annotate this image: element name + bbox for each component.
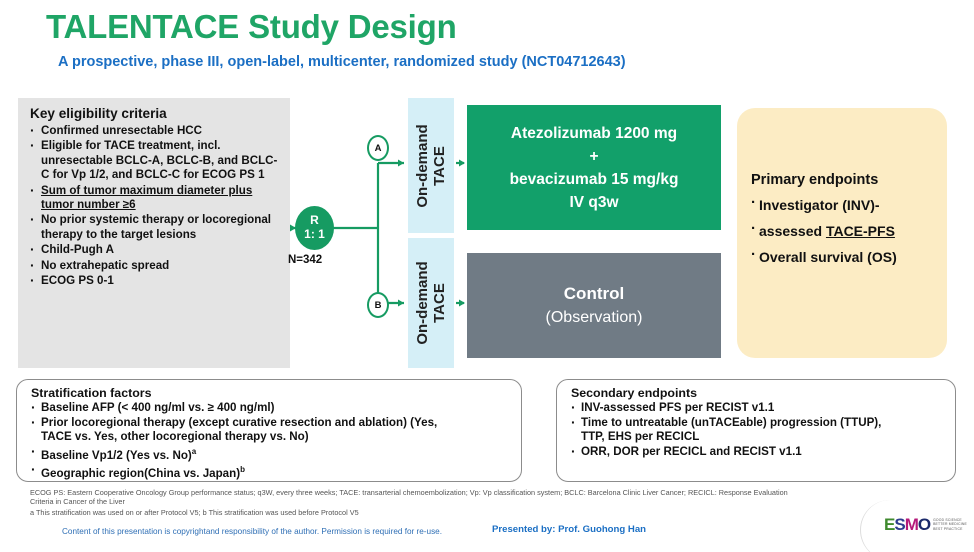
tace-a-line1: On-demand xyxy=(414,124,431,207)
footnote-marker-b: b xyxy=(240,465,245,474)
esmo-tag-line-3: BEST PRACTICE xyxy=(933,527,967,531)
on-demand-tace-arm-a: On-demand TACE xyxy=(408,98,454,233)
primary-endpoints-title: Primary endpoints xyxy=(751,172,947,188)
list-item: Sum of tumor maximum diameter plus tumor… xyxy=(30,184,284,213)
on-demand-tace-arm-a-text: On-demand TACE xyxy=(414,124,448,207)
list-item: Overall survival (OS) xyxy=(751,244,947,270)
footnote-line-3: a This stratification was used on or aft… xyxy=(30,508,935,517)
tace-b-line2: TACE xyxy=(431,283,448,323)
stratification-panel: Stratification factors Baseline AFP (< 4… xyxy=(16,379,522,482)
list-item: Confirmed unresectable HCC xyxy=(30,124,284,138)
list-item: Child-Pugh A xyxy=(30,243,284,257)
esmo-letter-s: S xyxy=(894,515,904,534)
list-item: Baseline Vp1/2 (Yes vs. No)a xyxy=(31,445,511,463)
list-item: Baseline AFP (< 400 ng/ml vs. ≥ 400 ng/m… xyxy=(31,401,511,416)
page-title: TALENTACE Study Design xyxy=(46,8,457,46)
arm-a-marker: A xyxy=(367,135,389,161)
primary-item1-underlined: TACE-PFS xyxy=(826,223,895,239)
eligibility-panel: Key eligibility criteria Confirmed unres… xyxy=(18,98,290,368)
strat-item-vp: Baseline Vp1/2 (Yes vs. No) xyxy=(41,449,192,462)
secondary-endpoints-title: Secondary endpoints xyxy=(557,380,955,401)
strat-item-region: Geographic region(China vs. Japan) xyxy=(41,467,240,480)
footnote-line-1: ECOG PS: Eastern Cooperative Oncology Gr… xyxy=(30,488,935,497)
treatment-arm-b-box: Control (Observation) xyxy=(467,253,721,358)
page-subtitle: A prospective, phase III, open-label, mu… xyxy=(58,54,626,70)
arm-b-marker: B xyxy=(367,292,389,318)
arm-b-line2: (Observation) xyxy=(467,306,721,330)
primary-item1-part2: assessed xyxy=(759,223,826,239)
list-item: ECOG PS 0-1 xyxy=(30,274,284,288)
slide-canvas: TALENTACE Study Design A prospective, ph… xyxy=(0,0,974,552)
tace-b-line1: On-demand xyxy=(414,261,431,344)
list-item: No prior systemic therapy or locoregiona… xyxy=(30,213,284,242)
copyright-text: Content of this presentation is copyrigh… xyxy=(62,527,442,536)
primary-endpoints-list: Investigator (INV)- assessed TACE-PFS Ov… xyxy=(751,192,947,270)
randomization-node: R 1: 1 xyxy=(295,206,334,250)
list-item: Eligible for TACE treatment, incl. unres… xyxy=(30,139,284,182)
list-item: ORR, DOR per RECICL and RECIST v1.1 xyxy=(571,445,945,460)
list-item-continuation: TACE vs. Yes, other locoregional therapy… xyxy=(31,430,511,445)
tace-a-line2: TACE xyxy=(431,146,448,186)
esmo-logo-tagline: GOOD SCIENCE BETTER MEDICINE BEST PRACTI… xyxy=(933,518,967,531)
esmo-letter-m: M xyxy=(905,515,918,534)
footnote-line-2: Criteria in Cancer of the Liver xyxy=(30,497,935,506)
esmo-logo-letters: ESMO xyxy=(884,516,930,533)
arm-a-line3: bevacizumab 15 mg/kg xyxy=(467,168,721,191)
list-item: Time to untreatable (unTACEable) progres… xyxy=(571,416,945,431)
randomization-ratio: 1: 1 xyxy=(295,227,334,241)
footnote-marker-a: a xyxy=(192,447,196,456)
secondary-endpoints-panel: Secondary endpoints INV-assessed PFS per… xyxy=(556,379,956,482)
on-demand-tace-arm-b-text: On-demand TACE xyxy=(414,261,448,344)
eligibility-list: Confirmed unresectable HCC Eligible for … xyxy=(18,124,290,288)
footnote-block: ECOG PS: Eastern Cooperative Oncology Gr… xyxy=(30,488,935,517)
list-item-continuation: TTP, EHS per RECICL xyxy=(571,430,945,445)
eligibility-item-underlined: Sum of tumor maximum diameter plus tumor… xyxy=(41,184,252,211)
list-item: Prior locoregional therapy (except curat… xyxy=(31,416,511,431)
arm-a-line2: + xyxy=(467,145,721,168)
primary-endpoints-panel: Primary endpoints Investigator (INV)- as… xyxy=(737,108,947,358)
treatment-arm-a-box: Atezolizumab 1200 mg + bevacizumab 15 mg… xyxy=(467,105,721,230)
randomization-label: R xyxy=(295,213,334,227)
eligibility-title: Key eligibility criteria xyxy=(18,98,290,123)
arm-b-line1: Control xyxy=(467,282,721,306)
stratification-list: Baseline AFP (< 400 ng/ml vs. ≥ 400 ng/m… xyxy=(17,401,521,482)
stratification-title: Stratification factors xyxy=(17,380,521,401)
esmo-logo: ESMO GOOD SCIENCE BETTER MEDICINE BEST P… xyxy=(884,516,967,533)
list-item: No extrahepatic spread xyxy=(30,259,284,273)
arm-a-line1: Atezolizumab 1200 mg xyxy=(467,122,721,145)
on-demand-tace-arm-b: On-demand TACE xyxy=(408,238,454,368)
list-item: Investigator (INV)- xyxy=(751,192,947,218)
list-item: Geographic region(China vs. Japan)b xyxy=(31,463,511,481)
list-item-continuation: assessed TACE-PFS xyxy=(751,218,947,244)
randomization-n: N=342 xyxy=(288,254,322,266)
list-item: INV-assessed PFS per RECIST v1.1 xyxy=(571,401,945,416)
arm-a-line4: IV q3w xyxy=(467,191,721,214)
esmo-letter-e: E xyxy=(884,515,894,534)
esmo-letter-o: O xyxy=(918,515,930,534)
primary-item1-part1: Investigator (INV)- xyxy=(759,197,880,213)
presenter-text: Presented by: Prof. Guohong Han xyxy=(492,524,646,535)
secondary-endpoints-list: INV-assessed PFS per RECIST v1.1 Time to… xyxy=(557,401,955,459)
